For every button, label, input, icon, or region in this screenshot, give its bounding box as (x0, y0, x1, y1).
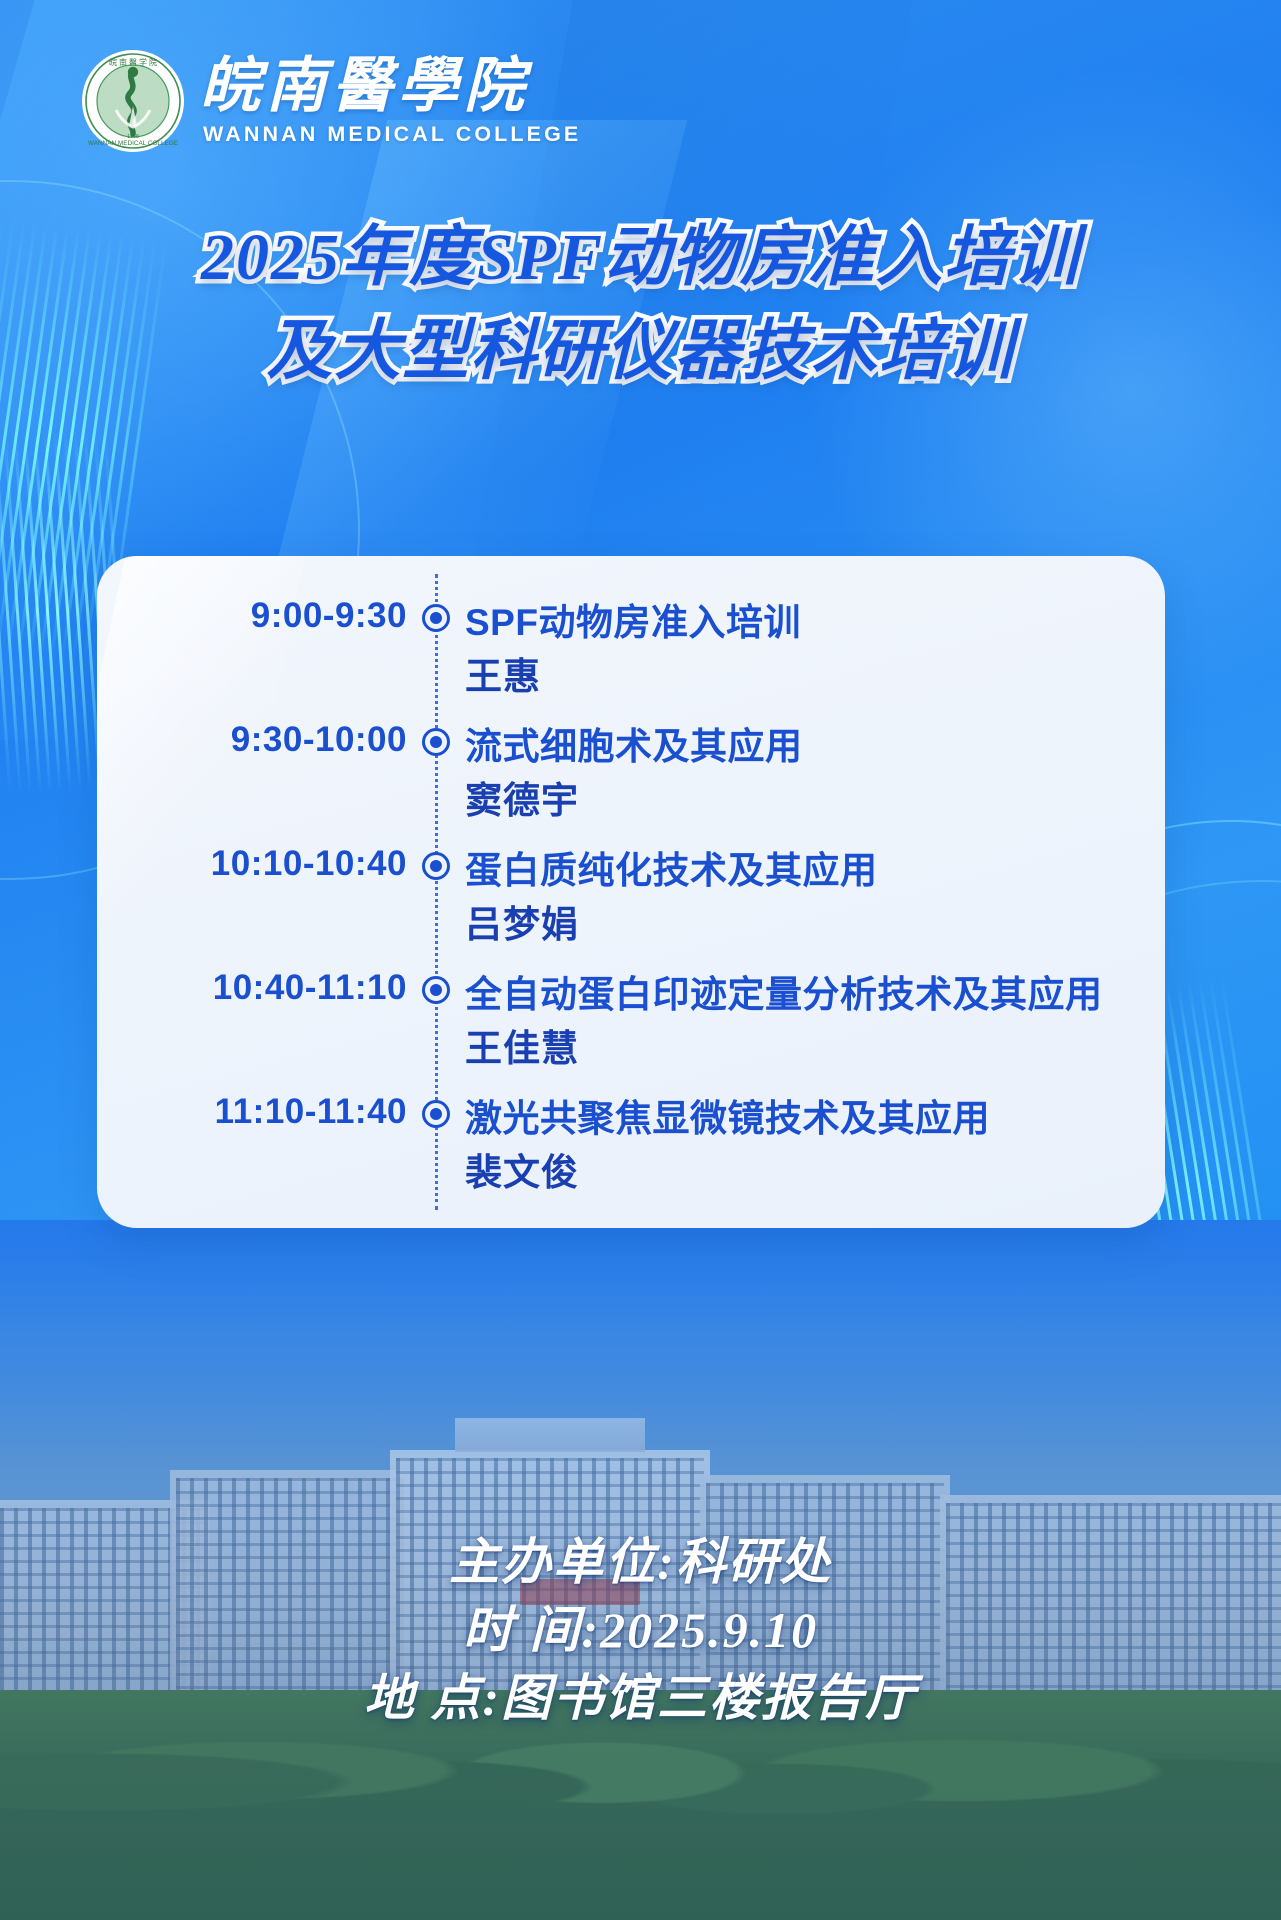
schedule-topic: 流式细胞术及其应用 (465, 716, 1151, 770)
schedule-topic: 蛋白质纯化技术及其应用 (465, 840, 1151, 894)
svg-text:1958: 1958 (127, 134, 139, 140)
timeline-bullet-icon (422, 852, 450, 880)
footer-location: 地 点:图书馆三楼报告厅 (0, 1664, 1281, 1732)
poster-header: 皖 南 醫 学 院 WANNAN MEDICAL COLLEGE 1958 皖南… (80, 48, 581, 154)
svg-text:WANNAN MEDICAL COLLEGE: WANNAN MEDICAL COLLEGE (88, 140, 178, 147)
schedule-speaker: 窦德宇 (465, 770, 579, 824)
college-emblem-icon: 皖 南 醫 学 院 WANNAN MEDICAL COLLEGE 1958 (80, 48, 186, 154)
schedule-row: 9:00-9:30 SPF动物房准入培训 王惠 (97, 590, 1165, 714)
schedule-time: 10:10-10:40 (97, 844, 407, 884)
schedule-time: 10:40-11:10 (97, 968, 407, 1008)
school-name-english: WANNAN MEDICAL COLLEGE (203, 122, 581, 147)
schedule-topic: SPF动物房准入培训 (465, 592, 1151, 646)
timeline-bullet-icon (422, 728, 450, 756)
poster-title: 2025年度SPF动物房准入培训 及大型科研仪器技术培训 (0, 215, 1281, 395)
timeline-bullet-icon (422, 976, 450, 1004)
schedule-time: 9:30-10:00 (97, 720, 407, 760)
poster-footer: 主办单位:科研处 时 间:2025.9.10 地 点:图书馆三楼报告厅 (0, 1528, 1281, 1732)
schedule-card: 9:00-9:30 SPF动物房准入培训 王惠 9:30-10:00 流式细胞术… (97, 556, 1165, 1228)
training-poster: 皖 南 醫 学 院 WANNAN MEDICAL COLLEGE 1958 皖南… (0, 0, 1281, 1920)
title-line-1: 2025年度SPF动物房准入培训 (0, 215, 1281, 301)
title-line-2: 及大型科研仪器技术培训 (0, 309, 1281, 395)
timeline-bullet-icon (422, 604, 450, 632)
schedule-row: 10:40-11:10 全自动蛋白印迹定量分析技术及其应用 王佳慧 (97, 962, 1165, 1086)
schedule-topic: 激光共聚焦显微镜技术及其应用 (465, 1088, 1151, 1142)
schedule-list: 9:00-9:30 SPF动物房准入培训 王惠 9:30-10:00 流式细胞术… (97, 556, 1165, 1210)
schedule-row: 9:30-10:00 流式细胞术及其应用 窦德宇 (97, 714, 1165, 838)
schedule-time: 11:10-11:40 (97, 1092, 407, 1132)
schedule-topic: 全自动蛋白印迹定量分析技术及其应用 (465, 964, 1151, 1018)
footer-datetime: 时 间:2025.9.10 (0, 1596, 1281, 1664)
school-name-chinese: 皖南醫學院 (200, 55, 581, 117)
schedule-speaker: 吕梦娟 (465, 894, 579, 948)
schedule-row: 10:10-10:40 蛋白质纯化技术及其应用 吕梦娟 (97, 838, 1165, 962)
schedule-speaker: 裴文俊 (465, 1142, 579, 1196)
timeline-bullet-icon (422, 1100, 450, 1128)
schedule-row: 11:10-11:40 激光共聚焦显微镜技术及其应用 裴文俊 (97, 1086, 1165, 1210)
schedule-speaker: 王惠 (465, 646, 541, 700)
schedule-time: 9:00-9:30 (97, 596, 407, 636)
footer-organizer: 主办单位:科研处 (0, 1528, 1281, 1596)
schedule-speaker: 王佳慧 (465, 1018, 579, 1072)
svg-text:皖 南 醫 学 院: 皖 南 醫 学 院 (109, 57, 157, 67)
